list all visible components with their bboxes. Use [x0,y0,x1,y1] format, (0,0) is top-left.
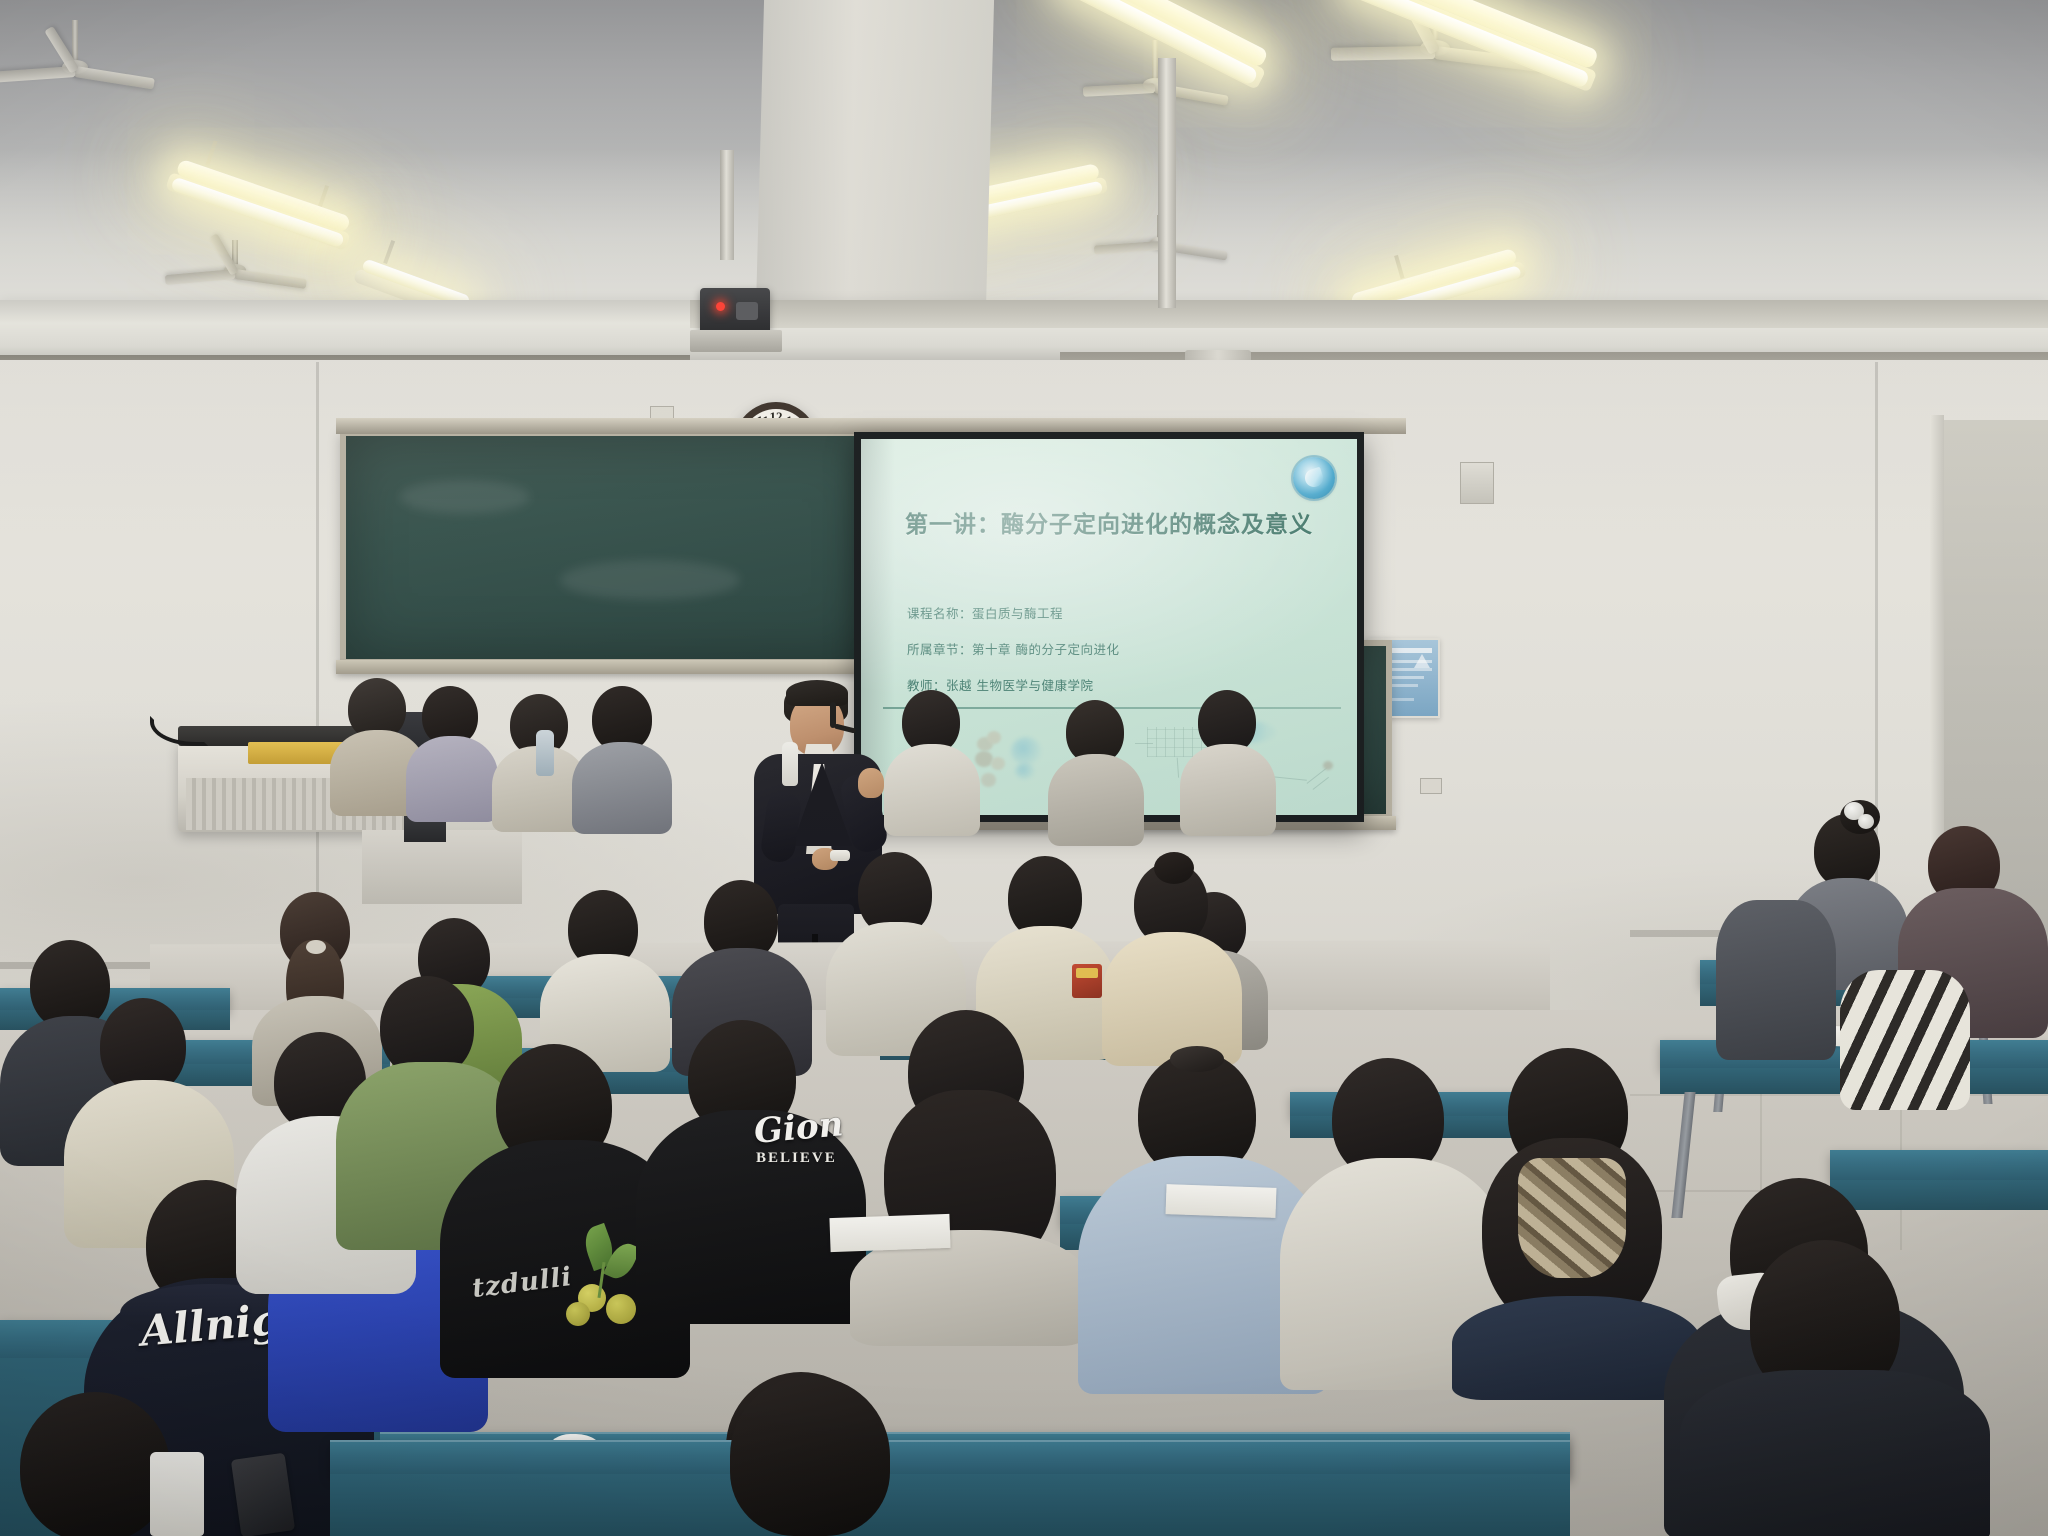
fan-blade [1083,83,1155,97]
sensor-led-icon [716,302,725,311]
lecturer-hand-gesturing [858,768,884,798]
slide-meta-chapter: 所属章节：第十章 酶的分子定向进化 [907,639,1119,658]
fan-blade [0,66,75,82]
hair-bun [1154,852,1194,884]
chalk-rail [336,660,880,674]
student-near-long-hair [850,1010,1090,1340]
fan-blade [74,66,155,89]
slide-artwork-spark [1303,759,1343,799]
backpack-patch-detail [1076,968,1098,978]
student-back-2 [406,686,498,816]
fan-blade [165,269,236,285]
student-head [20,1392,170,1536]
student-near-gion-hoodie [636,1020,866,1320]
student-body [884,744,980,836]
ceiling-fan-1 [0,20,150,110]
wall-box [1460,462,1494,504]
fan-blade [1094,241,1160,255]
ceiling-soffit [756,0,994,310]
chalk-smudge [400,480,530,514]
student-back-4 [572,686,672,826]
hoodie-sub-text: BELIEVE [756,1150,837,1167]
classroom-photo: 12 1 2 3 4 5 6 7 8 9 10 11 第一 [0,0,2048,1536]
student-body [1048,754,1144,846]
hair-tie [306,940,326,954]
student-body [406,736,498,822]
lecturer-hair-top [786,680,848,706]
student-right-dark [1716,900,1836,1070]
slide-meta-course: 课程名称：蛋白质与酶工程 [907,603,1063,622]
student-bottom-right-over [1680,1240,1990,1536]
student-body [1102,932,1242,1066]
university-emblem-icon [1293,457,1335,499]
chalk-smudge [560,560,740,600]
hoodie-script-text: Gion [752,1104,845,1152]
sensor-hanger-pipe [720,150,734,260]
white-hair-scrunchie [1858,814,1874,829]
student-striped-sleeve [1840,970,1970,1110]
hair-clip [1170,1046,1224,1072]
smartphone-on-desk[interactable] [231,1453,295,1536]
student-mid-7 [1102,862,1242,1072]
patterned-headband [1518,1158,1626,1278]
student-back-5 [884,690,980,830]
sensor-bracket [690,330,782,352]
student-back-7 [1048,700,1144,840]
student-body [572,742,672,834]
student-body [1716,900,1836,1060]
headset-band [830,702,836,728]
wall-seam [316,362,319,922]
beam-shadow-strip [690,300,2048,328]
water-bottle [782,742,798,786]
student-head [730,1376,890,1536]
student-body [1180,744,1276,836]
student-bottom-center-over [660,1376,960,1536]
thermos [536,730,554,776]
wall-outlet[interactable] [1420,778,1442,794]
student-right-stripe [1840,970,1970,1130]
open-notebook [1166,1184,1277,1218]
student-body [1680,1370,1990,1536]
slide-title: 第一讲：酶分子定向进化的概念及意义 [905,505,1335,539]
student-back-6 [1180,690,1276,830]
projector-hanger-pipe [1158,58,1176,308]
open-notebook [829,1214,950,1252]
water-bottle [150,1452,204,1536]
